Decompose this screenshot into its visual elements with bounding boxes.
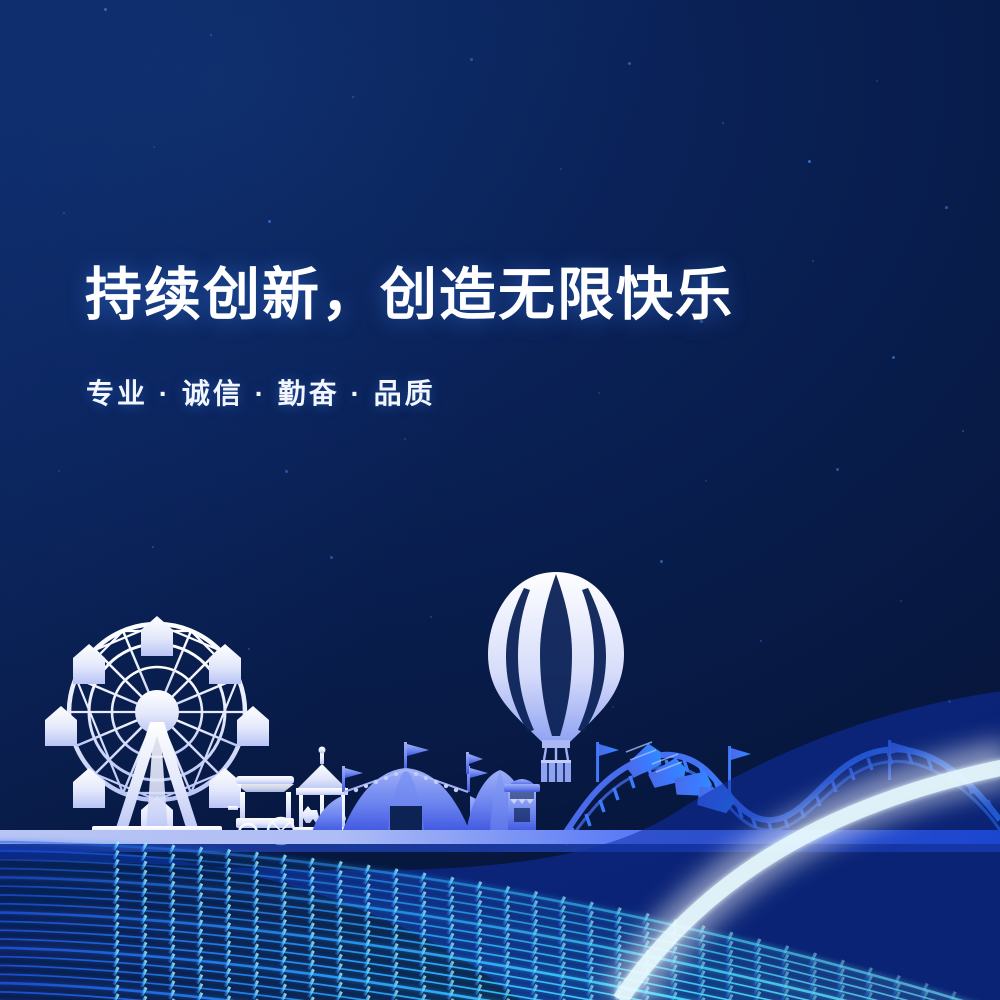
amusement-park-scene <box>0 0 1000 1000</box>
poster-canvas: 持续创新，创造无限快乐 专业 · 诚信 · 勤奋 · 品质 <box>0 0 1000 1000</box>
roller-coaster <box>566 740 1000 844</box>
page-subheadline: 专业 · 诚信 · 勤奋 · 品质 <box>86 372 436 412</box>
ticket-booth <box>504 779 540 832</box>
ground-band-lower <box>0 844 1000 852</box>
scene-svg <box>0 0 1000 1000</box>
page-headline: 持续创新，创造无限快乐 <box>85 264 734 328</box>
ground-band-upper <box>0 830 1000 844</box>
